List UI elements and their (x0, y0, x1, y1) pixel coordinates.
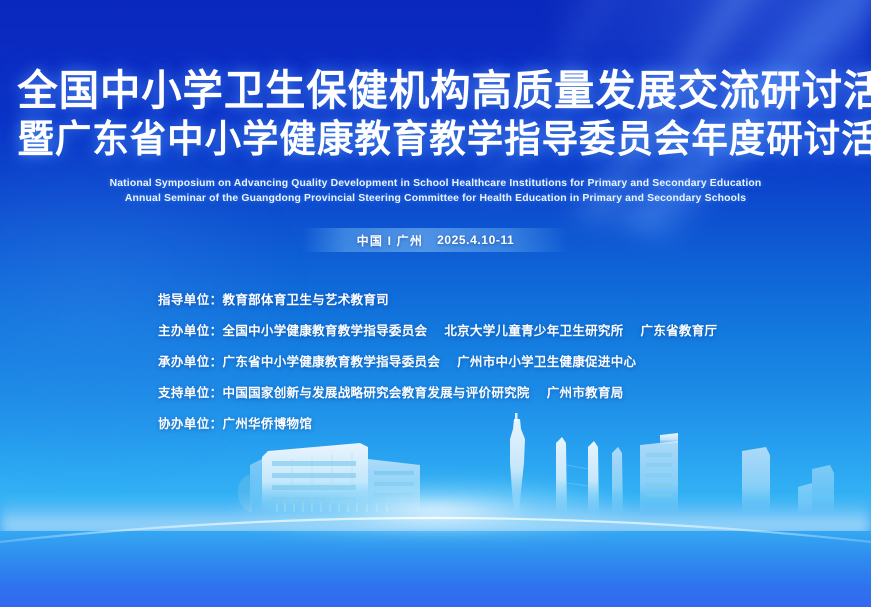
organizer-row: 指导单位： 教育部体育卫生与艺术教育司 (158, 289, 717, 308)
organizer-row: 支持单位： 中国国家创新与发展战略研究会教育发展与评价研究院 广州市教育局 (158, 382, 717, 401)
organizer-value: 北京大学儿童青少年卫生研究所 (444, 320, 623, 339)
ground-mist (0, 499, 871, 545)
organizer-label: 协办单位： (158, 413, 223, 432)
organizer-row: 承办单位： 广东省中小学健康教育教学指导委员会 广州市中小学卫生健康促进中心 (158, 351, 717, 370)
office-tower-icon (640, 433, 678, 513)
organizer-value: 广州市教育局 (547, 382, 624, 401)
organizer-values: 广州华侨博物馆 (223, 413, 313, 432)
organizer-value: 广州市中小学卫生健康促进中心 (457, 351, 636, 370)
organizer-values: 全国中小学健康教育教学指导委员会 北京大学儿童青少年卫生研究所 广东省教育厅 (223, 320, 718, 339)
event-location: 中国 I 广州 (357, 232, 423, 249)
organizer-value: 教育部体育卫生与艺术教育司 (223, 289, 389, 308)
main-title-line-1: 全国中小学卫生保健机构高质量发展交流研讨活动 (17, 70, 853, 112)
organizer-values: 广东省中小学健康教育教学指导委员会 广州市中小学卫生健康促进中心 (223, 351, 637, 370)
organizer-value: 中国国家创新与发展战略研究会教育发展与评价研究院 (223, 382, 530, 401)
event-date: 2025.4.10-11 (437, 233, 514, 247)
organizer-values: 教育部体育卫生与艺术教育司 (223, 289, 389, 308)
twin-towers-icon (556, 437, 623, 513)
school-building-icon (238, 443, 420, 513)
horizon-arc (0, 497, 871, 607)
main-title-line-2: 暨广东省中小学健康教育教学指导委员会年度研讨活动 (17, 121, 853, 159)
organizer-label: 承办单位： (158, 351, 223, 370)
organizer-value: 广州华侨博物馆 (223, 413, 313, 432)
organizer-label: 支持单位： (158, 382, 223, 401)
organizer-row: 协办单位： 广州华侨博物馆 (158, 413, 717, 432)
organizer-value: 全国中小学健康教育教学指导委员会 (223, 320, 428, 339)
organizer-label: 主办单位： (158, 320, 223, 339)
low-rise-tower-icon (798, 465, 834, 513)
organizer-list: 指导单位： 教育部体育卫生与艺术教育司 主办单位： 全国中小学健康教育教学指导委… (158, 289, 717, 432)
organizer-row: 主办单位： 全国中小学健康教育教学指导委员会 北京大学儿童青少年卫生研究所 广东… (158, 320, 717, 339)
poster-subtitle-block: National Symposium on Advancing Quality … (0, 176, 871, 206)
bottom-band (0, 531, 871, 607)
subtitle-line-2: Annual Seminar of the Guangdong Provinci… (4, 191, 866, 206)
event-badge: 中国 I 广州 2025.4.10-11 (303, 228, 568, 252)
event-meta-bar: 中国 I 广州 2025.4.10-11 (0, 228, 871, 252)
organizer-values: 中国国家创新与发展战略研究会教育发展与评价研究院 广州市教育局 (223, 382, 624, 401)
subtitle-line-1: National Symposium on Advancing Quality … (4, 176, 866, 191)
organizer-label: 指导单位： (158, 289, 223, 308)
skyscraper-icon (742, 447, 770, 513)
event-badge-text: 中国 I 广州 2025.4.10-11 (357, 232, 515, 249)
organizer-value: 广东省中小学健康教育教学指导委员会 (223, 351, 441, 370)
poster-title-block: 全国中小学卫生保健机构高质量发展交流研讨活动 暨广东省中小学健康教育教学指导委员… (0, 70, 871, 159)
conference-poster: 全国中小学卫生保健机构高质量发展交流研讨活动 暨广东省中小学健康教育教学指导委员… (0, 0, 871, 607)
horizon-glow (226, 475, 646, 535)
organizer-value: 广东省教育厅 (641, 320, 718, 339)
